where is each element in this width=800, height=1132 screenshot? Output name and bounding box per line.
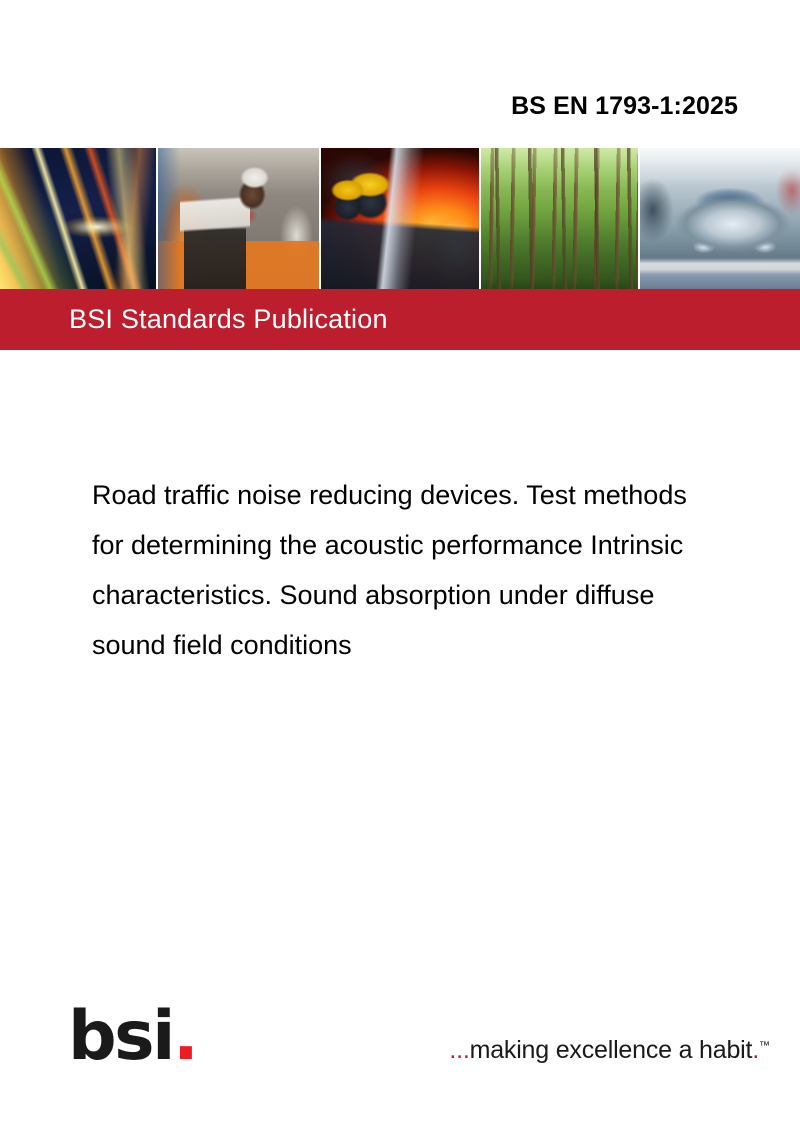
bsi-logo-wordmark: bsi — [68, 997, 173, 1076]
photo-panel-car-assembly — [640, 148, 800, 289]
title-line-1: Road traffic noise reducing devices. Tes… — [92, 470, 800, 520]
banner-label: BSI Standards Publication — [69, 304, 388, 335]
title-line-4: sound field conditions — [92, 620, 800, 670]
standard-number: BS EN 1793-1:2025 — [511, 92, 738, 121]
bsi-logo: bsi. — [68, 1003, 196, 1071]
tagline-leading-ellipsis: ... — [449, 1036, 469, 1064]
photo-panel-forest — [481, 148, 639, 289]
tagline-text: making excellence a habit — [470, 1036, 753, 1064]
document-title: Road traffic noise reducing devices. Tes… — [92, 470, 800, 670]
title-line-3: characteristics. Sound absorption under … — [92, 570, 800, 620]
trademark-icon: ™ — [759, 1040, 770, 1052]
bsi-logo-dot: . — [173, 997, 196, 1076]
standards-publication-banner: BSI Standards Publication — [0, 289, 800, 350]
photo-panel-warehouse-worker — [158, 148, 320, 289]
bsi-tagline: ...making excellence a habit.™ — [449, 1036, 770, 1065]
photo-panel-traffic-light-trails — [0, 148, 158, 289]
tagline-period: . — [752, 1036, 759, 1064]
photo-panel-firefighters — [321, 148, 481, 289]
title-line-2: for determining the acoustic performance… — [92, 520, 800, 570]
cover-photo-strip — [0, 148, 800, 289]
